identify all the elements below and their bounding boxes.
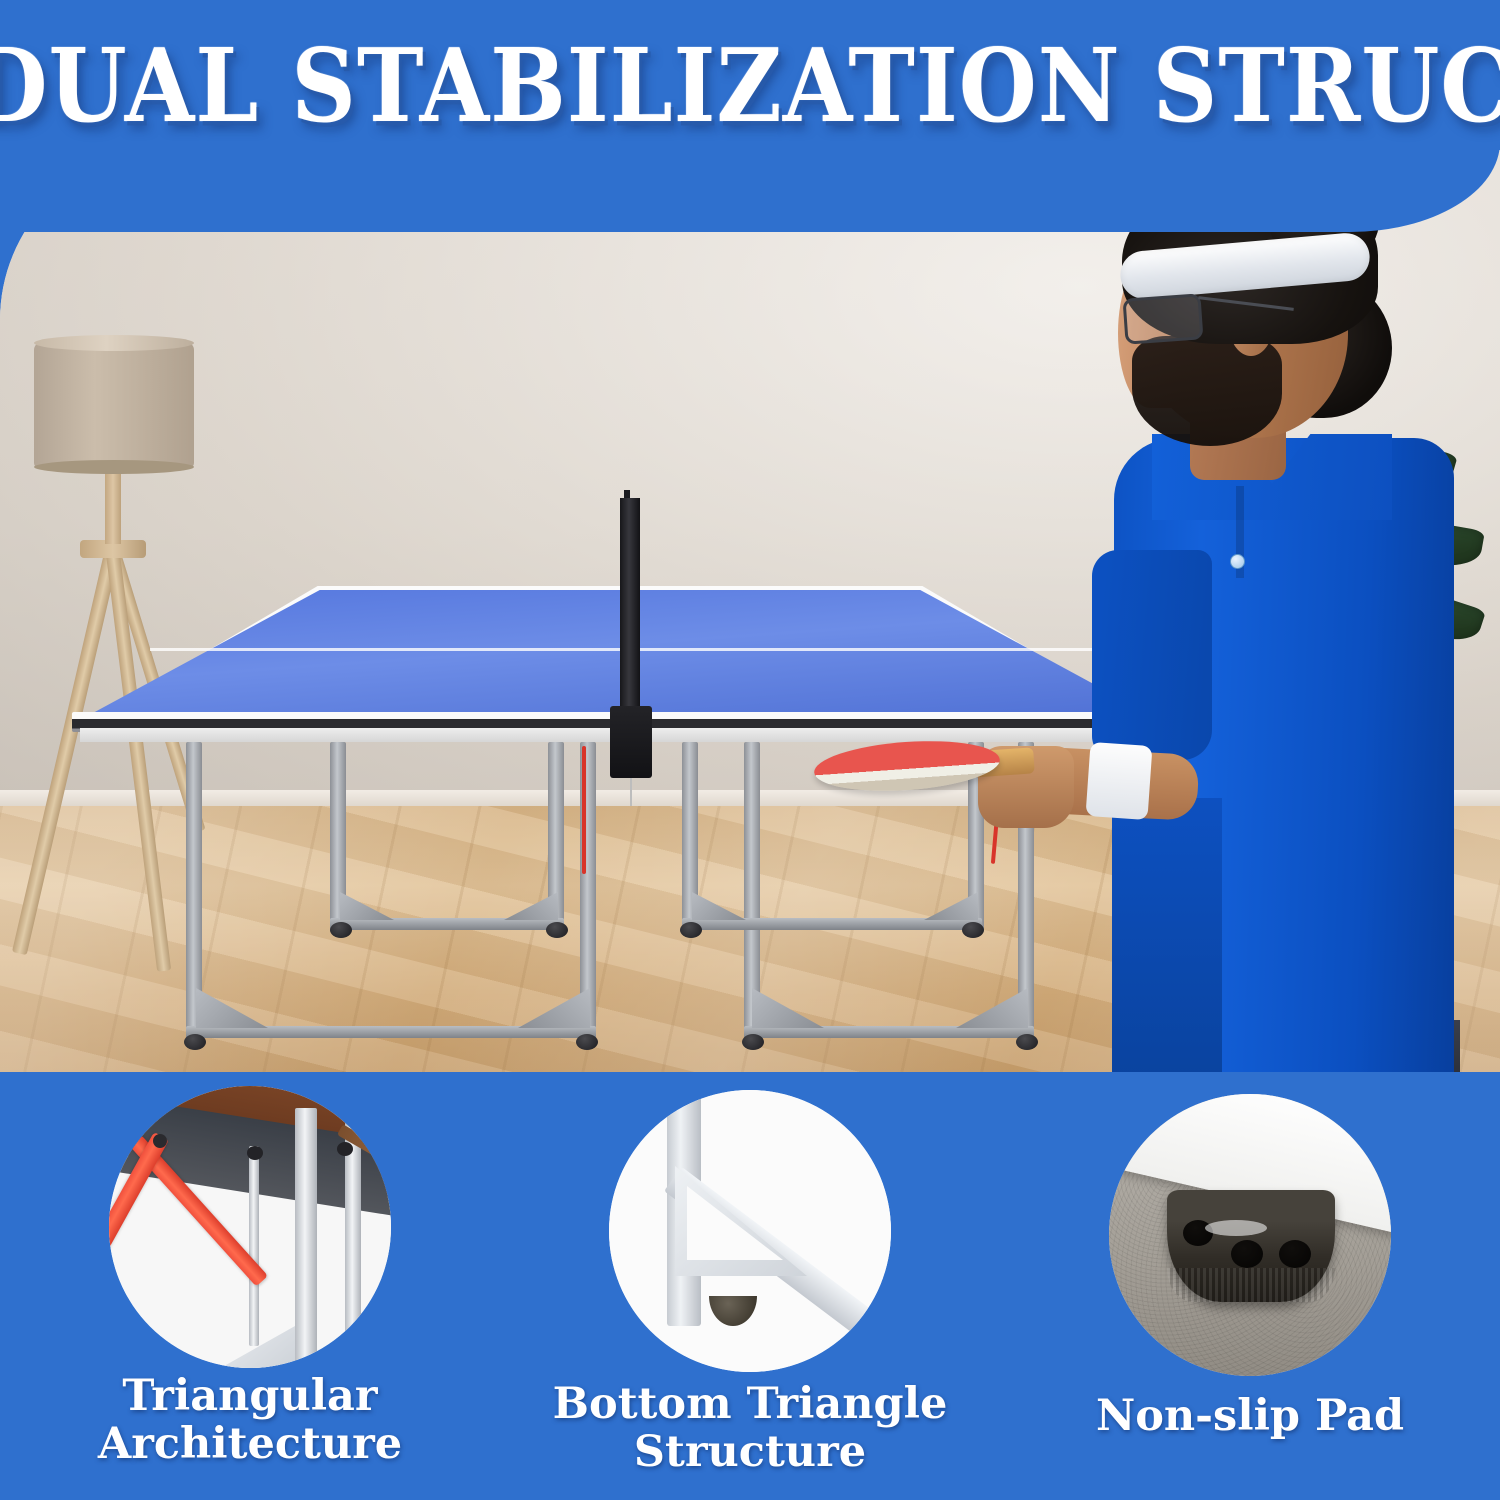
c3-pad-hole (1279, 1240, 1311, 1268)
c1-pivot-bolt (337, 1142, 353, 1156)
player-shirt-button (1230, 554, 1245, 569)
c3-leg-highlight (1205, 1220, 1267, 1236)
red-safety-cord (582, 746, 586, 874)
feature-label-line: Non-slip Pad (1000, 1392, 1500, 1440)
triangle-gusset (692, 892, 746, 920)
table-caster (546, 922, 568, 938)
triangle-gusset (196, 988, 268, 1028)
feature-label-triangular-architecture: Triangular Architecture (0, 1372, 500, 1468)
c1-table-leg (295, 1108, 317, 1368)
feature-label-bottom-triangle-structure: Bottom Triangle Structure (500, 1380, 1000, 1476)
table-caster (330, 922, 352, 938)
feature-label-line: Architecture (0, 1420, 500, 1468)
triangle-gusset (924, 892, 978, 920)
table-caster (962, 922, 984, 938)
feature-image-non-slip-pad (1109, 1094, 1391, 1376)
feature-image-bottom-triangle-structure (609, 1090, 891, 1372)
hero-photo (0, 150, 1500, 1072)
player (1040, 150, 1500, 1072)
net-tension-cord (630, 778, 632, 806)
c1-pivot-bolt (153, 1134, 167, 1148)
feature-image-triangular-architecture (109, 1086, 391, 1368)
table-caster (1016, 1034, 1038, 1050)
feature-triangular-architecture[interactable]: Triangular Architecture (0, 1072, 500, 1500)
feature-label-non-slip-pad: Non-slip Pad (1000, 1392, 1500, 1440)
triangle-gusset (340, 892, 394, 920)
player-wristband (1085, 742, 1152, 820)
net-clamp (610, 706, 652, 778)
c1-support-rod (249, 1146, 259, 1346)
feature-label-line: Bottom Triangle (500, 1380, 1000, 1428)
triangle-gusset (504, 892, 558, 920)
triangle-gusset (752, 988, 824, 1028)
product-infographic: DUAL STABILIZATION STRUCTURE Triangu (0, 0, 1500, 1500)
player-sleeve (1092, 550, 1212, 760)
c3-pad-hole (1231, 1240, 1263, 1268)
triangle-gusset (518, 988, 590, 1028)
table-caster (742, 1034, 764, 1050)
triangle-gusset (956, 988, 1028, 1028)
feature-non-slip-pad[interactable]: Non-slip Pad (1000, 1072, 1500, 1500)
feature-label-line: Triangular (0, 1372, 500, 1420)
feature-label-line: Structure (500, 1428, 1000, 1476)
player-glasses (1122, 293, 1203, 344)
feature-strip: Triangular Architecture Bottom Triangle … (0, 1072, 1500, 1500)
c1-table-leg (345, 1122, 361, 1368)
feature-bottom-triangle-structure[interactable]: Bottom Triangle Structure (500, 1072, 1000, 1500)
table-caster (576, 1034, 598, 1050)
table-caster (680, 922, 702, 938)
c1-pivot-bolt (247, 1146, 263, 1160)
page-title: DUAL STABILIZATION STRUCTURE (0, 36, 1500, 137)
table-caster (184, 1034, 206, 1050)
